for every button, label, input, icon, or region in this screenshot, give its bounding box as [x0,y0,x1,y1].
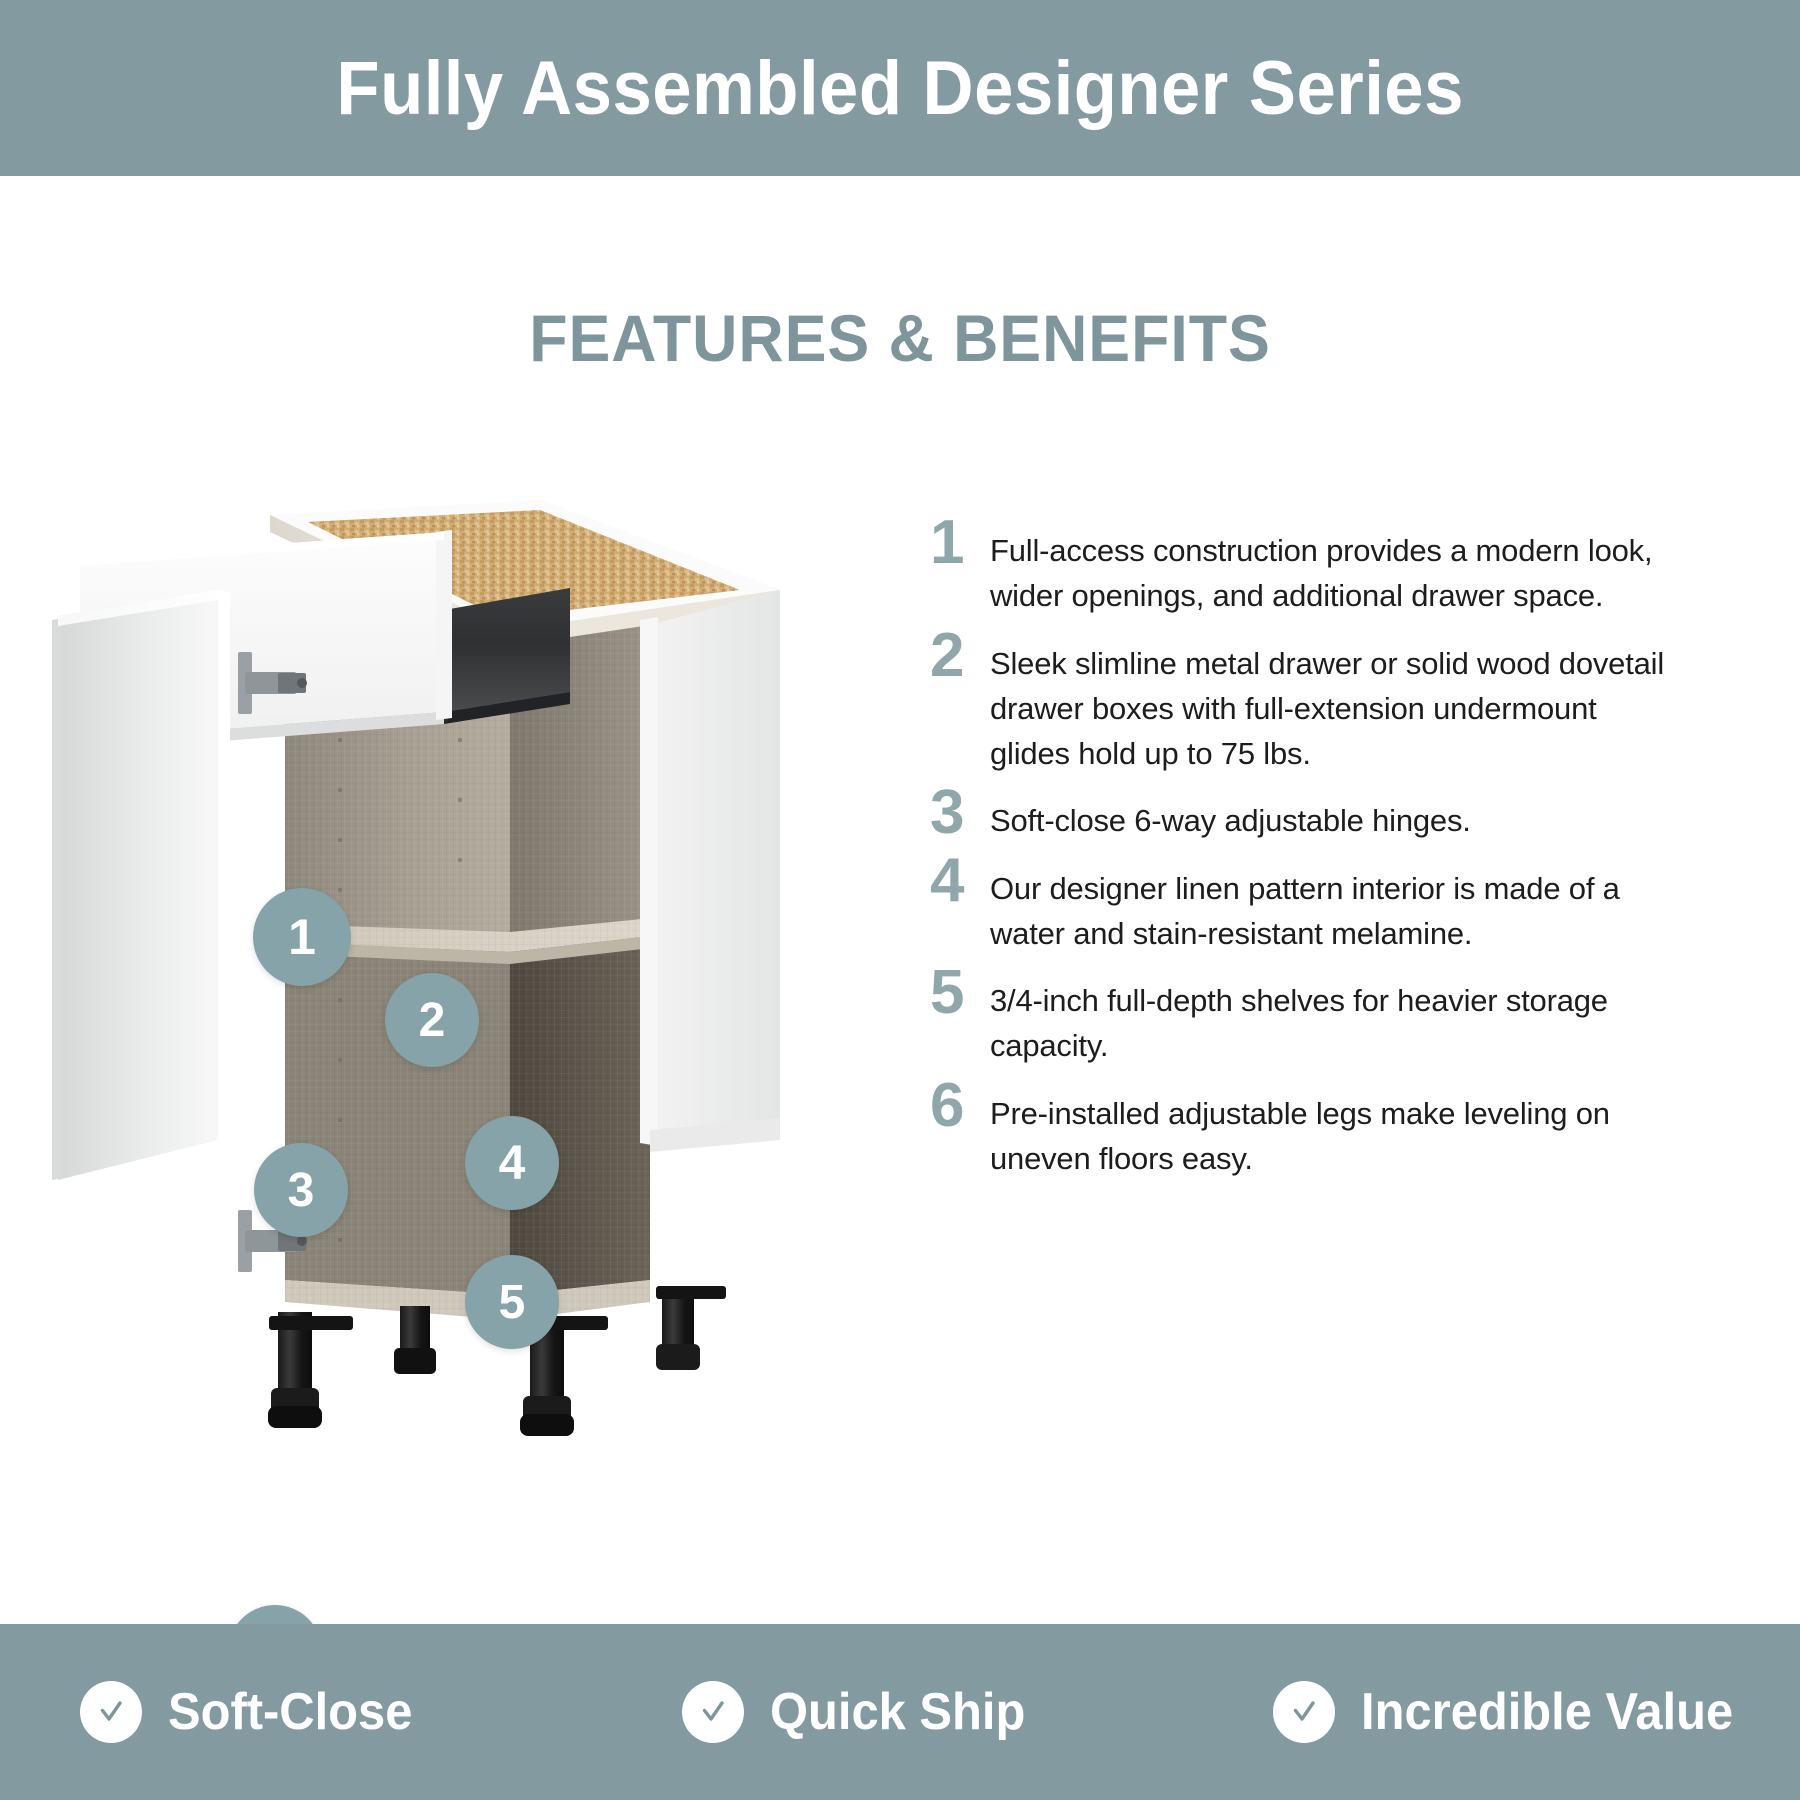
section-heading: FEATURES & BENEFITS [45,300,1755,376]
feature-item-2-number: 2 [930,627,990,686]
benefit-incredible-value: Incredible Value [1208,1681,1800,1743]
callout-badge-4-label: 4 [499,1136,526,1191]
benefit-incredible-value-label: Incredible Value [1361,1682,1733,1742]
callout-badge-2: 2 [385,973,479,1067]
feature-item-6-number: 6 [930,1077,990,1136]
benefit-soft-close: Soft-Close [0,1681,607,1743]
callout-badge-3: 3 [254,1143,348,1237]
benefit-quick-ship: Quick Ship [607,1681,1209,1743]
feature-item-1-text: Full-access construction provides a mode… [990,520,1670,619]
check-circle-icon [80,1681,142,1743]
feature-item-3-text: Soft-close 6-way adjustable hinges. [990,790,1471,843]
features-list: 1 Full-access construction provides a mo… [930,520,1670,1195]
callout-badge-5: 5 [465,1255,559,1349]
callout-badge-5-label: 5 [499,1275,526,1330]
product-illustration: 1 2 3 4 5 6 [40,440,900,1460]
check-circle-icon [1273,1681,1335,1743]
feature-item-6-text: Pre-installed adjustable legs make level… [990,1083,1670,1182]
callout-badge-3-label: 3 [288,1163,315,1218]
feature-item-4-number: 4 [930,852,990,911]
feature-item-5-number: 5 [930,964,990,1023]
feature-item-5: 5 3/4-inch full-depth shelves for heavie… [930,970,1670,1069]
callout-badge-4: 4 [465,1116,559,1210]
feature-item-4-text: Our designer linen pattern interior is m… [990,858,1670,957]
top-banner: Fully Assembled Designer Series [0,0,1800,176]
callout-badge-1-label: 1 [288,908,316,966]
feature-item-5-text: 3/4-inch full-depth shelves for heavier … [990,970,1670,1069]
callout-badge-2-label: 2 [419,993,446,1048]
feature-item-1-number: 1 [930,514,990,573]
feature-item-3: 3 Soft-close 6-way adjustable hinges. [930,790,1670,843]
feature-item-1: 1 Full-access construction provides a mo… [930,520,1670,619]
page-title: Fully Assembled Designer Series [336,45,1463,132]
bottom-banner: Soft-Close Quick Ship Incredible Value [0,1624,1800,1800]
feature-item-3-number: 3 [930,784,990,843]
feature-item-4: 4 Our designer linen pattern interior is… [930,858,1670,957]
feature-item-6: 6 Pre-installed adjustable legs make lev… [930,1083,1670,1182]
feature-item-2-text: Sleek slimline metal drawer or solid woo… [990,633,1670,777]
feature-item-2: 2 Sleek slimline metal drawer or solid w… [930,633,1670,777]
benefit-quick-ship-label: Quick Ship [770,1682,1025,1742]
callout-badge-1: 1 [253,888,351,986]
check-circle-icon [682,1681,744,1743]
benefit-soft-close-label: Soft-Close [168,1682,412,1742]
